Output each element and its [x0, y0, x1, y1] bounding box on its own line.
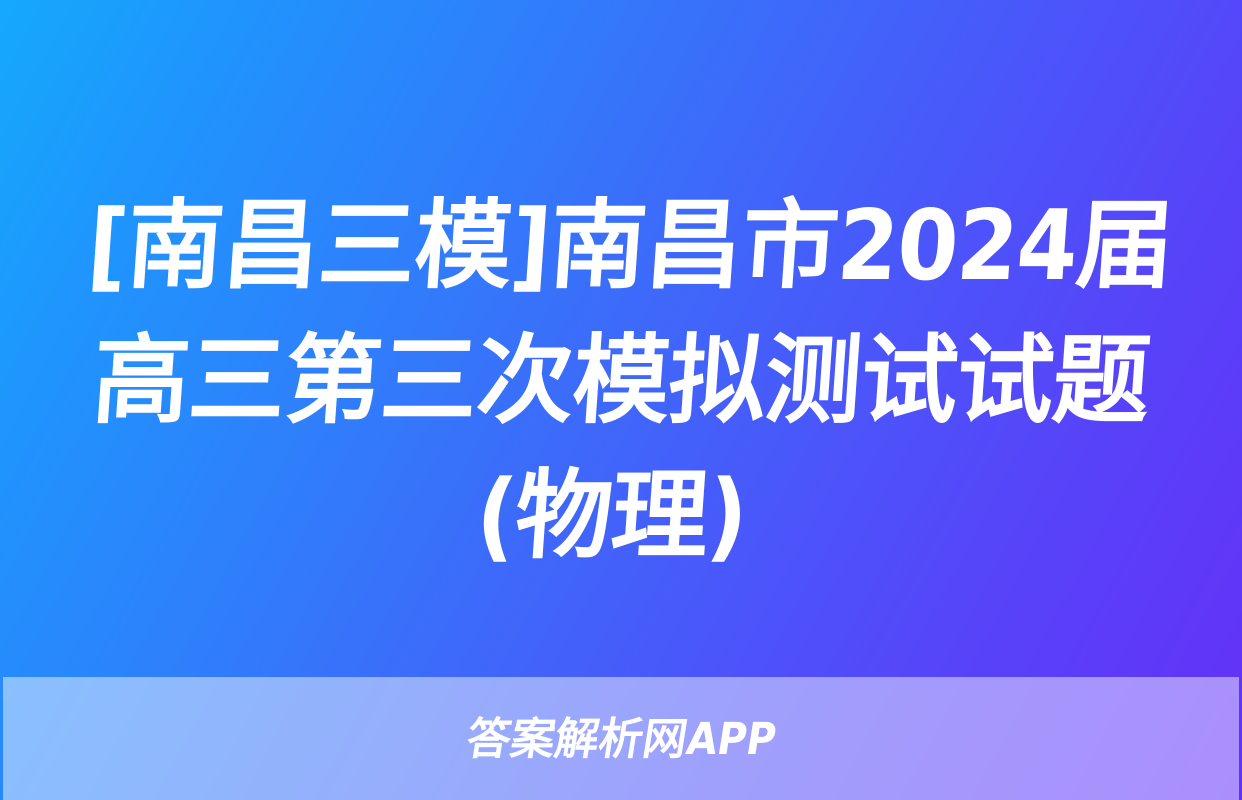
title-block: [南昌三模]南昌市2024届高三第三次模拟测试试题(物理): [0, 178, 1242, 610]
share-card: [南昌三模]南昌市2024届高三第三次模拟测试试题(物理) 答案解析网APP: [0, 0, 1242, 800]
page-title: [南昌三模]南昌市2024届高三第三次模拟测试试题(物理): [52, 178, 1190, 583]
app-watermark-label: 答案解析网APP: [463, 716, 779, 764]
footer-band: 答案解析网APP: [3, 677, 1239, 800]
